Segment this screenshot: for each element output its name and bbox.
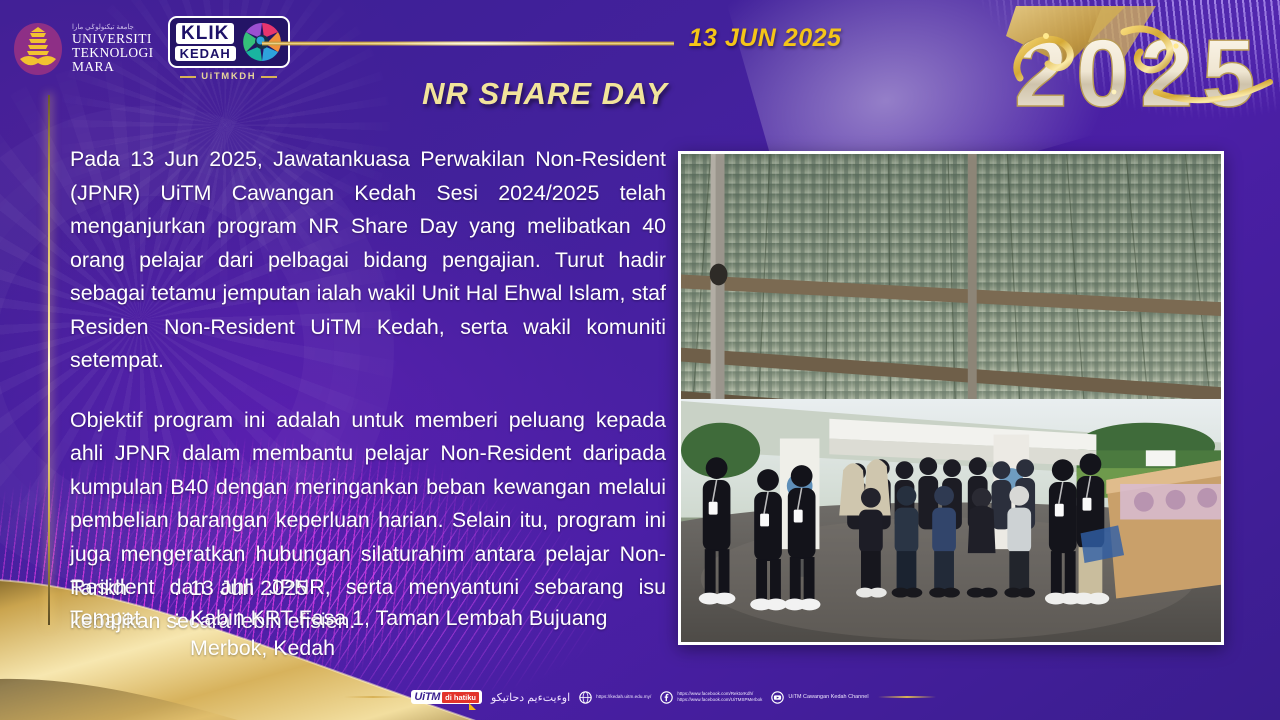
header-gold-rule xyxy=(262,41,674,46)
logo-group: جامعة تيكنولوݢي مارا UNIVERSITI TEKNOLOG… xyxy=(12,16,290,82)
klik-label: KLIK xyxy=(176,23,234,44)
detail-row-date: Tarikh : 13 Jun 2025 xyxy=(70,573,710,603)
facebook-links[interactable]: https://www.facebook.com/RektorKdh/ http… xyxy=(660,691,762,704)
uitm-jawi-text: جامعة تيكنولوݢي مارا xyxy=(72,24,154,31)
website-link[interactable]: https://kedah.uitm.edu.my/ xyxy=(579,691,651,704)
footer-rule-right xyxy=(878,696,936,698)
vertical-gold-divider xyxy=(48,95,50,625)
youtube-channel-name: UiTM Cawangan Kedah Channel xyxy=(788,694,868,700)
svg-text:0: 0 xyxy=(1076,20,1129,124)
footer-jawi-text: اوءيتءيم دحاتيكو xyxy=(491,691,570,704)
facebook-url-2: https://www.facebook.com/UiTMSPMerbok xyxy=(677,697,762,703)
detail-row-place: Tempat : Kabin KRT Fasa 1, Taman Lembah … xyxy=(70,603,710,633)
youtube-icon xyxy=(771,691,784,704)
date-separator: : xyxy=(174,573,190,603)
detail-row-place-line2: Merbok, Kedah xyxy=(70,633,710,663)
date-label: Tarikh xyxy=(70,573,174,603)
kedah-label: KEDAH xyxy=(175,46,236,61)
event-date-header: 13 JUN 2025 xyxy=(650,24,880,53)
place-value: Kabin KRT Fasa 1, Taman Lembah Bujuang xyxy=(190,603,607,633)
klik-kedah-logo-block: KLIK KEDAH UiTMKDH xyxy=(168,16,290,82)
paragraph-1: Pada 13 Jun 2025, Jawatankuasa Perwakila… xyxy=(70,143,666,378)
place-separator: : xyxy=(174,603,190,633)
facebook-url-stack: https://www.facebook.com/RektorKdh/ http… xyxy=(677,691,762,703)
uitm-line3: MARA xyxy=(72,60,154,74)
event-details-block: Tarikh : 13 Jun 2025 Tempat : Kabin KRT … xyxy=(70,573,710,663)
uitm-line2: TEKNOLOGI xyxy=(72,46,154,60)
footer-rule-left xyxy=(344,696,402,698)
body-copy: Pada 13 Jun 2025, Jawatankuasa Perwakila… xyxy=(70,143,666,638)
poster-canvas: جامعة تيكنولوݢي مارا UNIVERSITI TEKNOLOG… xyxy=(0,0,1280,720)
globe-icon xyxy=(579,691,592,704)
date-value: 13 Jun 2025 xyxy=(190,573,308,603)
di-hatiku-label: di hatiku xyxy=(442,692,479,703)
place-label: Tempat xyxy=(70,603,174,633)
klik-kedah-wordmark: KLIK KEDAH xyxy=(175,23,236,61)
uitm-di-hatiku-logo: UiTM di hatiku xyxy=(411,690,482,704)
event-photo xyxy=(678,151,1224,645)
website-url: https://kedah.uitm.edu.my/ xyxy=(596,694,651,700)
footer-bar: UiTM di hatiku اوءيتءيم دحاتيكو https://… xyxy=(0,682,1280,712)
year-2025-graphic: 2 0 2 5 xyxy=(1006,6,1274,124)
svg-text:5: 5 xyxy=(1202,20,1255,124)
uitm-crest-icon xyxy=(12,21,64,77)
svg-text:2: 2 xyxy=(1014,20,1067,124)
event-photo-illustration xyxy=(681,154,1221,642)
place-value-line2: Merbok, Kedah xyxy=(190,636,335,660)
facebook-icon xyxy=(660,691,673,704)
uitm-line1: UNIVERSITI xyxy=(72,32,154,46)
youtube-channel[interactable]: UiTM Cawangan Kedah Channel xyxy=(771,691,868,704)
uitm-wordmark: جامعة تيكنولوݢي مارا UNIVERSITI TEKNOLOG… xyxy=(72,24,154,73)
uitm-brand-label: UiTM xyxy=(414,691,440,703)
uitm-logo: جامعة تيكنولوݢي مارا UNIVERSITI TEKNOLOG… xyxy=(12,21,154,77)
